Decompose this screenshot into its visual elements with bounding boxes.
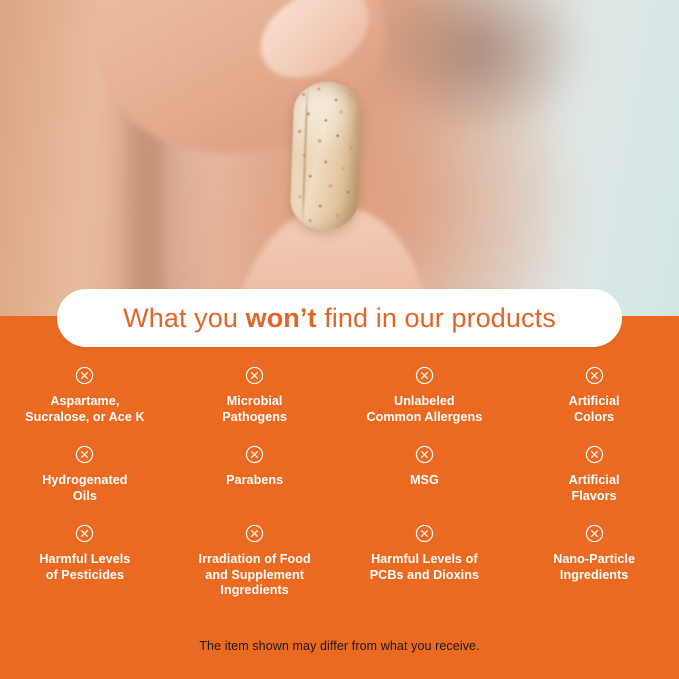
excluded-item-label: Irradiation of Food and Supplement Ingre… <box>199 552 311 599</box>
excluded-item: Artificial Flavors <box>509 445 679 504</box>
excluded-item: Parabens <box>170 445 340 504</box>
excluded-item-label: Aspartame, Sucralose, or Ace K <box>25 394 144 425</box>
circle-x-icon <box>245 366 264 385</box>
product-photo <box>0 0 679 318</box>
page-title: What you won’t find in our products <box>123 303 556 334</box>
product-info-card: What you won’t find in our products Aspa… <box>0 0 679 679</box>
excluded-item-label: Harmful Levels of PCBs and Dioxins <box>370 552 479 583</box>
circle-x-icon <box>585 366 604 385</box>
excluded-item-label: Microbial Pathogens <box>222 394 287 425</box>
circle-x-icon <box>75 524 94 543</box>
excluded-item: Harmful Levels of PCBs and Dioxins <box>340 524 510 599</box>
circle-x-icon <box>415 524 434 543</box>
excluded-item-label: MSG <box>410 473 439 489</box>
circle-x-icon <box>585 445 604 464</box>
excluded-item-label: Parabens <box>226 473 283 489</box>
excluded-item-label: Nano-Particle Ingredients <box>553 552 635 583</box>
panel-title-banner: What you won’t find in our products <box>57 289 622 347</box>
circle-x-icon <box>245 524 264 543</box>
circle-x-icon <box>75 366 94 385</box>
excluded-item: Irradiation of Food and Supplement Ingre… <box>170 524 340 599</box>
excluded-item-label: Harmful Levels of Pesticides <box>39 552 130 583</box>
excluded-item: Unlabeled Common Allergens <box>340 366 510 425</box>
circle-x-icon <box>75 445 94 464</box>
title-suffix: find in our products <box>317 303 556 333</box>
excluded-item: MSG <box>340 445 510 504</box>
title-prefix: What you <box>123 303 245 333</box>
excluded-item: Hydrogenated Oils <box>0 445 170 504</box>
tablet-speckles <box>289 81 362 231</box>
excluded-item: Artificial Colors <box>509 366 679 425</box>
excluded-item-label: Unlabeled Common Allergens <box>366 394 482 425</box>
excluded-item: Aspartame, Sucralose, or Ace K <box>0 366 170 425</box>
circle-x-icon <box>415 445 434 464</box>
tablet-icon <box>289 81 362 231</box>
title-emphasis: won’t <box>246 303 317 333</box>
excluded-item-label: Artificial Flavors <box>569 473 620 504</box>
excluded-item: Harmful Levels of Pesticides <box>0 524 170 599</box>
circle-x-icon <box>245 445 264 464</box>
excluded-item: Nano-Particle Ingredients <box>509 524 679 599</box>
circle-x-icon <box>415 366 434 385</box>
excluded-ingredients-grid: Aspartame, Sucralose, or Ace KMicrobial … <box>0 366 679 599</box>
excluded-item-label: Artificial Colors <box>569 394 620 425</box>
excluded-item-label: Hydrogenated Oils <box>42 473 127 504</box>
excluded-item: Microbial Pathogens <box>170 366 340 425</box>
disclaimer-text: The item shown may differ from what you … <box>0 639 679 653</box>
circle-x-icon <box>585 524 604 543</box>
